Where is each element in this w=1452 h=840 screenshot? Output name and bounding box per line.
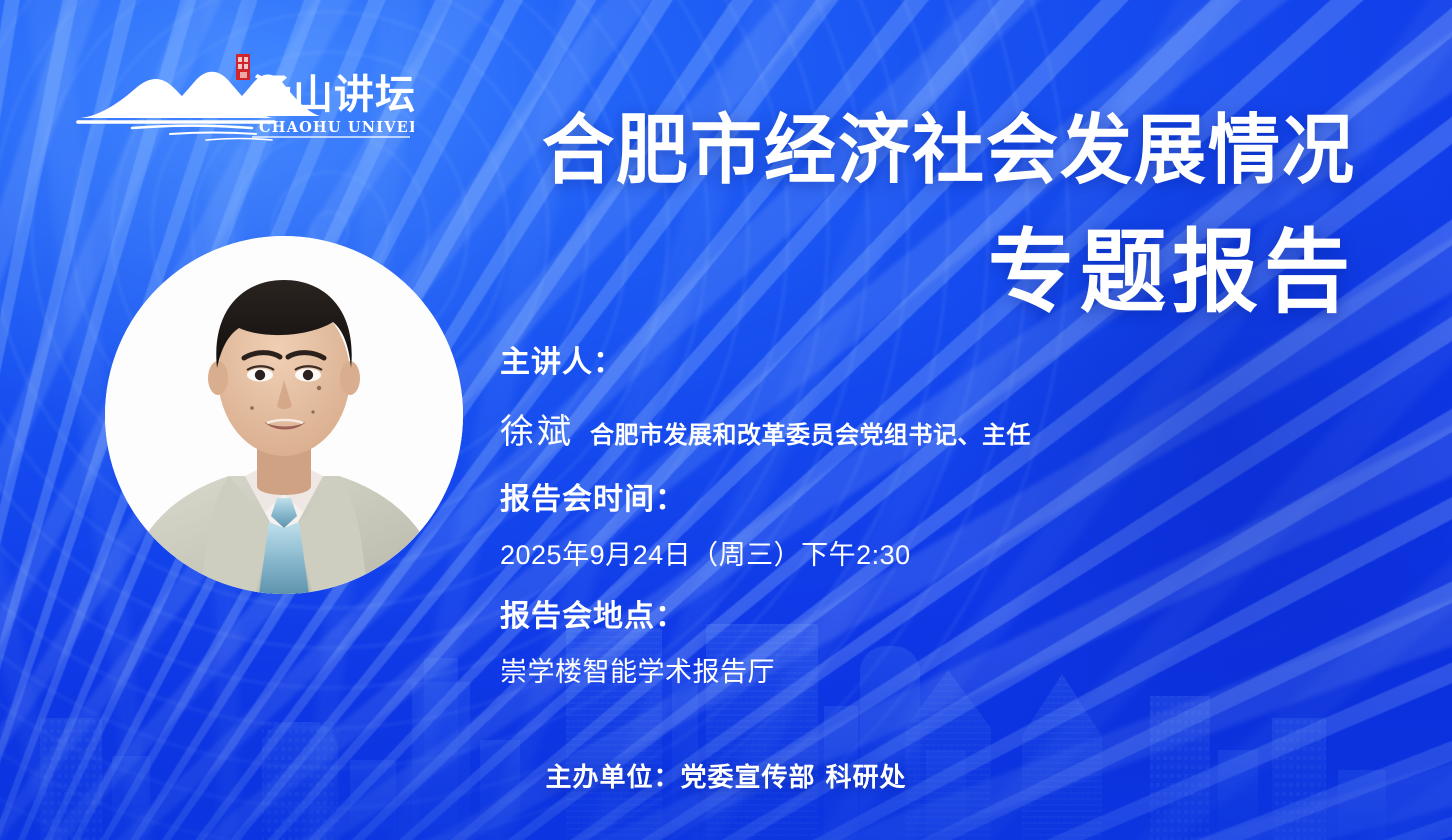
poster-root: 汤山讲坛 CHAOHU UNIVERSITY bbox=[0, 0, 1452, 840]
place-value: 崇学楼智能学术报告厅 bbox=[500, 650, 1031, 689]
avatar bbox=[105, 236, 463, 594]
speaker-name: 徐斌 bbox=[500, 404, 574, 453]
headline-line-1: 合肥市经济社会发展情况 bbox=[542, 110, 1356, 191]
speaker-label: 主讲人： bbox=[500, 348, 1031, 378]
speaker-portrait-avatar bbox=[105, 236, 463, 594]
logo-en-text: CHAOHU UNIVERSITY bbox=[259, 119, 414, 136]
time-label: 报告会时间： bbox=[500, 485, 1031, 515]
logo-cn-text: 汤山讲坛 bbox=[252, 72, 414, 118]
organizer-footer: 主办单位：党委宣传部 科研处 bbox=[0, 757, 1452, 794]
speaker-row: 徐斌 合肥市发展和改革委员会党组书记、主任 bbox=[500, 404, 1031, 453]
headline-line-2: 专题报告 bbox=[542, 226, 1356, 323]
brand-logo[interactable]: 汤山讲坛 CHAOHU UNIVERSITY bbox=[74, 52, 414, 144]
speaker-title: 合肥市发展和改革委员会党组书记、主任 bbox=[590, 415, 1031, 450]
time-value: 2025年9月24日（周三）下午2:30 bbox=[500, 533, 1031, 572]
place-label: 报告会地点： bbox=[500, 602, 1031, 632]
event-info-block: 主讲人： 徐斌 合肥市发展和改革委员会党组书记、主任 报告会时间： 2025年9… bbox=[500, 348, 1031, 689]
red-seal-icon bbox=[236, 54, 250, 80]
poster-headline: 合肥市经济社会发展情况 专题报告 bbox=[542, 112, 1356, 319]
